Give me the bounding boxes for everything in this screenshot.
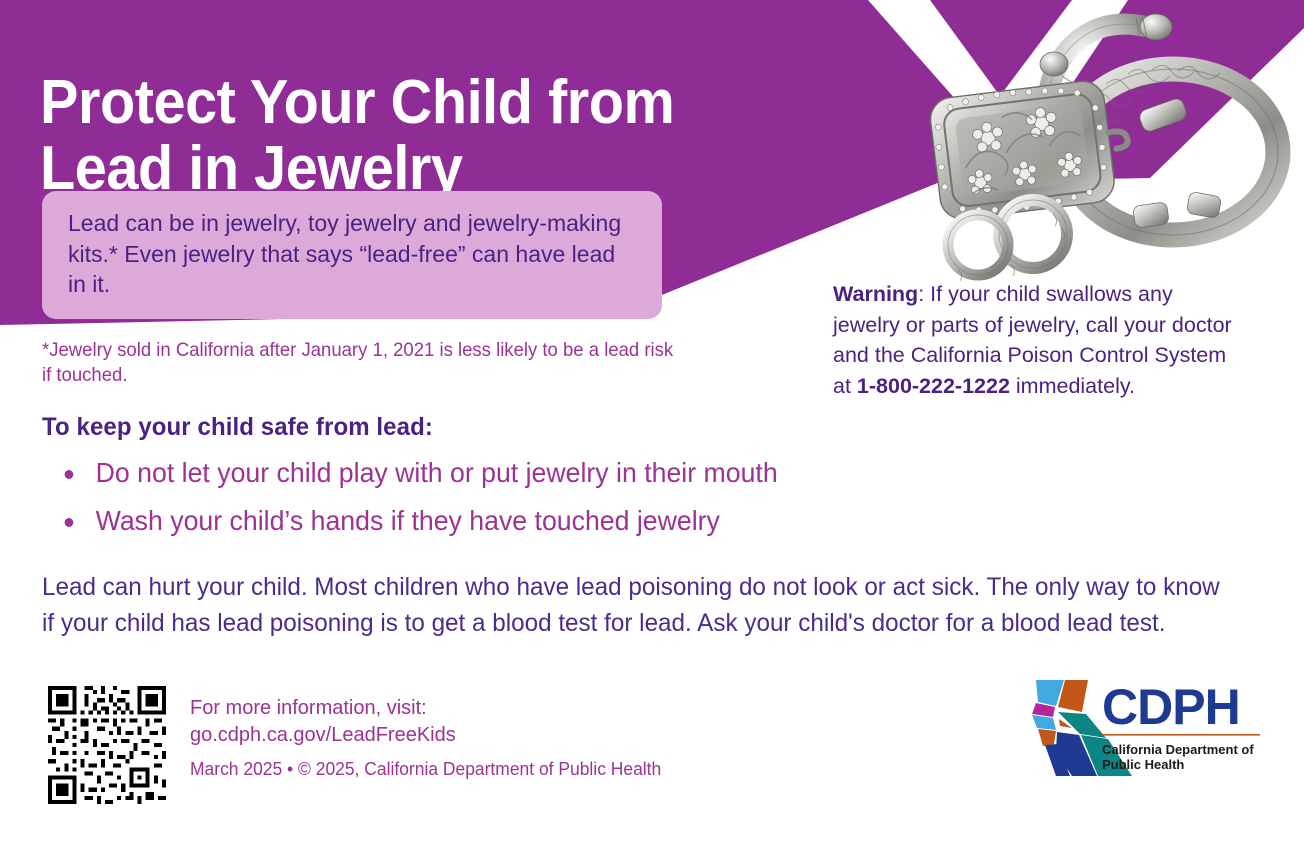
logo-subtitle-line2: Public Health	[1102, 757, 1184, 772]
callout-box: Lead can be in jewelry, toy jewelry and …	[42, 191, 662, 319]
body-paragraph: Lead can hurt your child. Most children …	[42, 570, 1221, 641]
jewelry-photo	[840, 0, 1304, 282]
safety-heading: To keep your child safe from lead:	[42, 413, 433, 442]
bullet-dot-icon	[65, 518, 74, 527]
list-item-label: Wash your child’s hands if they have tou…	[96, 505, 720, 536]
warning-text-after: immediately.	[1010, 374, 1135, 398]
list-item-label: Do not let your child play with or put j…	[96, 457, 778, 488]
safety-bullet-list: Do not let your child play with or put j…	[52, 459, 992, 554]
logo-subtitle-line1: California Department of	[1102, 742, 1254, 757]
bullet-dot-icon	[65, 470, 74, 479]
page-title: Protect Your Child from Lead in Jewelry	[40, 70, 775, 203]
qr-code-icon[interactable]	[48, 686, 166, 804]
list-item: Do not let your child play with or put j…	[52, 459, 964, 487]
cdph-logo: CDPH California Department of Public Hea…	[1012, 672, 1262, 784]
more-info-link[interactable]: For more information, visit: go.cdph.ca.…	[190, 695, 456, 748]
footnote-text: *Jewelry sold in California after Januar…	[42, 338, 679, 388]
warning-label: Warning	[833, 282, 918, 306]
logo-acronym: CDPH	[1102, 679, 1240, 735]
date-copyright: March 2025 • © 2025, California Departme…	[190, 759, 661, 780]
warning-block: Warning: If your child swallows any jewe…	[833, 279, 1243, 401]
poster-canvas: Protect Your Child from Lead in Jewelry …	[0, 0, 1304, 841]
poison-control-phone: 1-800-222-1222	[857, 374, 1010, 398]
list-item: Wash your child’s hands if they have tou…	[52, 507, 964, 535]
